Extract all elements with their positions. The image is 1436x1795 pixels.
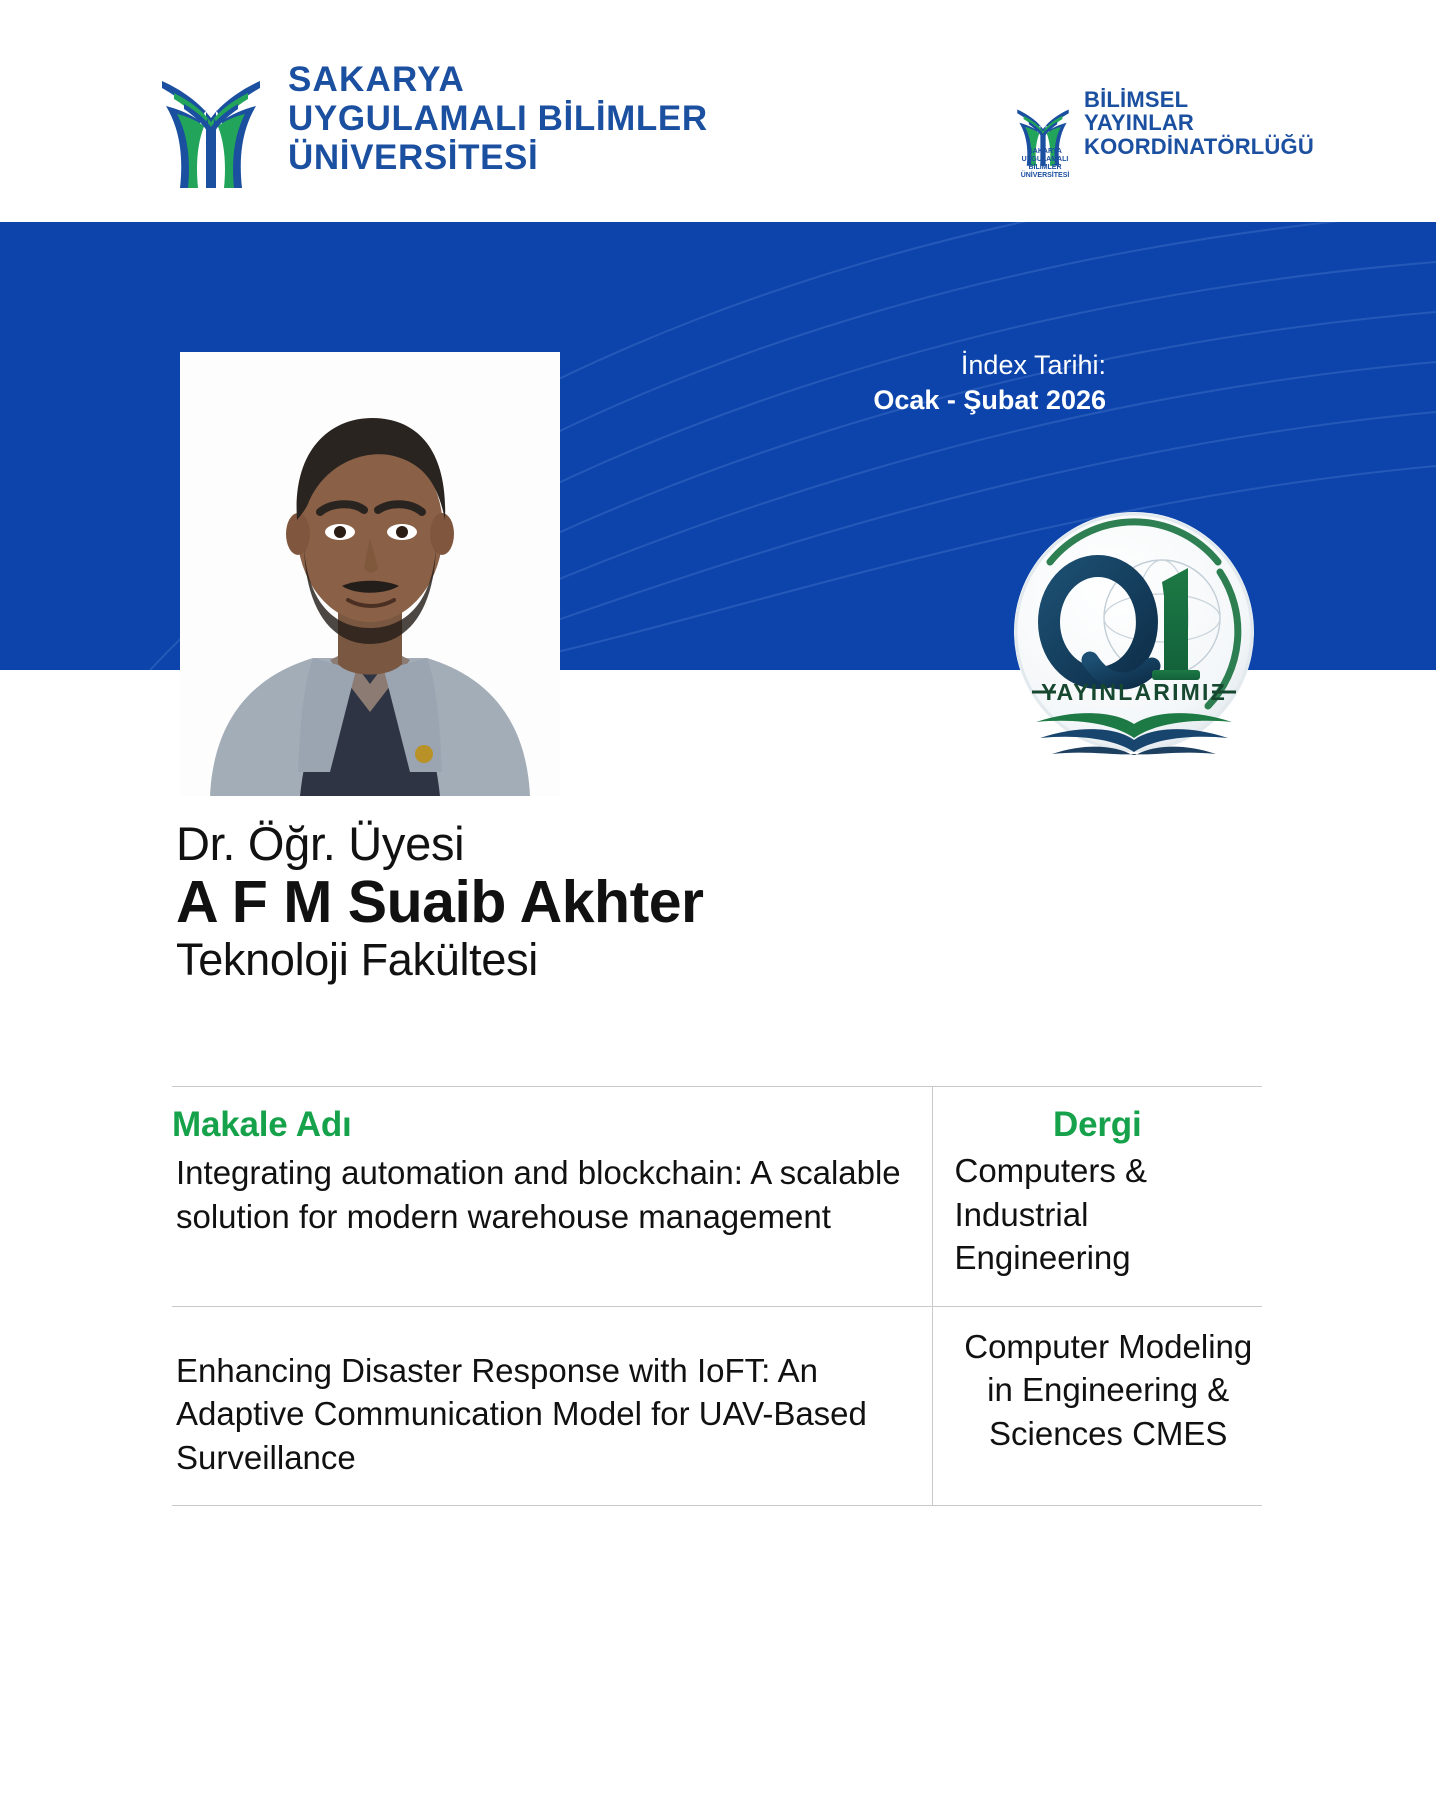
- person-block: Dr. Öğr. Üyesi A F M Suaib Akhter Teknol…: [176, 818, 1126, 986]
- coordination-line2: YAYINLAR: [1084, 111, 1314, 134]
- person-title: Dr. Öğr. Üyesi: [176, 818, 1126, 871]
- header-dergi: Dergi: [932, 1087, 1262, 1150]
- university-line2: UYGULAMALI BİLİMLER: [288, 101, 708, 136]
- page-header: SAKARYA UYGULAMALI BİLİMLER ÜNİVERSİTESİ…: [0, 0, 1436, 222]
- table-header-row: Makale Adı Dergi: [172, 1087, 1262, 1150]
- table-row: Enhancing Disaster Response with IoFT: A…: [172, 1307, 1262, 1506]
- index-date-value: Ocak - Şubat 2026: [873, 383, 1106, 418]
- publications-table: Makale Adı Dergi Integrating automation …: [172, 1086, 1262, 1506]
- university-logo: SAKARYA UYGULAMALI BİLİMLER ÜNİVERSİTESİ: [152, 48, 708, 188]
- university-name: SAKARYA UYGULAMALI BİLİMLER ÜNİVERSİTESİ: [288, 62, 708, 175]
- coordination-name: BİLİMSEL YAYINLAR KOORDİNATÖRLÜĞÜ: [1084, 88, 1314, 158]
- bottom-left: [172, 1506, 932, 1507]
- coordination-logo-caption: SAKARYAUYGULAMALI BİLİMLERÜNİVERSİTESİ: [1005, 148, 1085, 180]
- table-row: Integrating automation and blockchain: A…: [172, 1149, 1262, 1306]
- row-title: Integrating automation and blockchain: A…: [172, 1149, 932, 1306]
- bottom-right: [932, 1506, 1262, 1507]
- index-date-label: İndex Tarihi:: [873, 348, 1106, 383]
- q1-subtitle: YAYINLARIMIZ: [1041, 679, 1227, 705]
- row-journal: Computers & Industrial Engineering: [932, 1149, 1262, 1306]
- person-faculty: Teknoloji Fakültesi: [176, 934, 1126, 985]
- row-title: Enhancing Disaster Response with IoFT: A…: [172, 1307, 932, 1506]
- university-line3: ÜNİVERSİTESİ: [288, 140, 708, 175]
- header-makale-adi: Makale Adı: [172, 1087, 932, 1150]
- portrait-photo-frame: [180, 352, 560, 796]
- person-name: A F M Suaib Akhter: [176, 869, 1126, 936]
- row-journal: Computer Modeling in Engineering & Scien…: [932, 1307, 1262, 1506]
- q1-seal-badge-icon: YAYINLARIMIZ: [1012, 510, 1257, 755]
- coordination-line3: KOORDİNATÖRLÜĞÜ: [1084, 135, 1314, 158]
- table-bottom-border: [172, 1506, 1262, 1507]
- index-date-block: İndex Tarihi: Ocak - Şubat 2026: [873, 348, 1106, 417]
- sakarya-tulip-logo-icon: [152, 48, 270, 188]
- university-line1: SAKARYA: [288, 62, 708, 97]
- portrait-photo: [180, 352, 560, 796]
- coordination-line1: BİLİMSEL: [1084, 88, 1314, 111]
